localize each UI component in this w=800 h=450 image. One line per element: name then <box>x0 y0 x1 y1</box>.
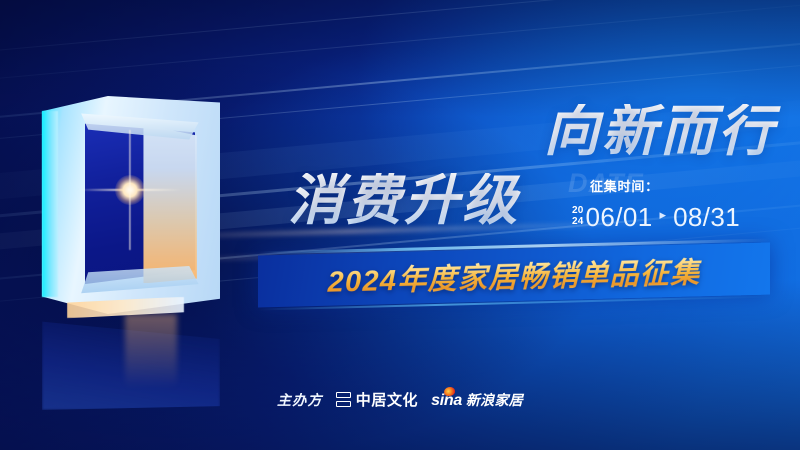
organizer-logo: 中居文化 <box>336 389 418 410</box>
date-end: 08/31 <box>673 202 740 233</box>
date-year-bottom: 24 <box>572 217 584 227</box>
star-flare-core <box>115 175 145 205</box>
promo-banner: 向新而行 消费升级 DATE 征集时间： 20 24 06/01 ▸ 08/31… <box>0 0 800 450</box>
sina-wordmark: sina <box>431 390 462 410</box>
sina-chinese-name: 新浪家居 <box>466 390 523 410</box>
date-block: DATE 征集时间： 20 24 06/01 ▸ 08/31 <box>572 176 784 233</box>
subtitle-banner: 2024年度家居畅销单品征集 <box>258 243 770 308</box>
portal-left-edge-glow <box>42 111 58 296</box>
portal-reflection-glow <box>125 314 177 388</box>
zhongju-mark-icon <box>336 392 351 407</box>
organizer-label: 主办方 <box>277 390 323 410</box>
portal-open-door-panel <box>143 124 196 283</box>
portal-door-graphic <box>42 96 220 314</box>
date-start: 06/01 <box>586 202 653 233</box>
date-range-row: 20 24 06/01 ▸ 08/31 <box>572 202 784 233</box>
date-year-stacked: 20 24 <box>572 206 584 228</box>
organizer-name: 中居文化 <box>356 389 418 410</box>
date-year-top: 20 <box>572 206 584 216</box>
headline-line-1: 向新而行 <box>272 104 782 159</box>
footer-credits: 主办方 中居文化 sina 新浪家居 <box>0 389 800 410</box>
date-label: 征集时间： <box>590 176 784 195</box>
subtitle-text: 2024年度家居畅销单品征集 <box>258 248 770 303</box>
star-flare-icon <box>128 188 132 192</box>
sina-logo-group: sina 新浪家居 <box>431 390 523 410</box>
arrow-right-icon: ▸ <box>660 207 667 223</box>
